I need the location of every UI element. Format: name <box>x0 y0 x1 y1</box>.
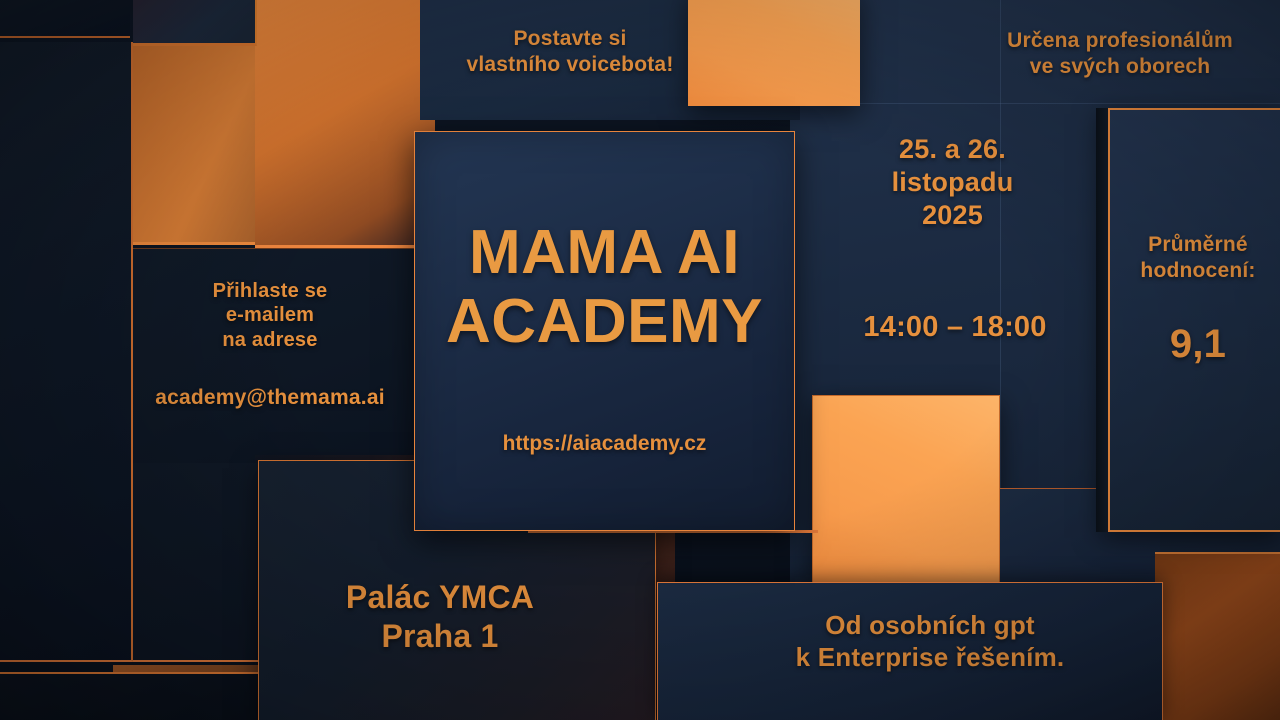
event-venue: Palác YMCA Praha 1 <box>280 578 600 656</box>
bg-slab-left-tall <box>0 42 133 662</box>
bg-seam-vertical-right <box>1000 0 1001 560</box>
tagline-voicebot: Postavte si vlastního voicebota! <box>350 26 790 77</box>
signup-email-address[interactable]: academy@themama.ai <box>110 385 430 411</box>
poster-canvas: MAMA AI ACADEMY https://aiacademy.cz Pos… <box>0 0 1280 720</box>
bg-orange-slab-bottomright <box>1155 552 1280 720</box>
tagline-professionals: Určena profesionálům ve svých oborech <box>900 28 1280 79</box>
website-url[interactable]: https://aiacademy.cz <box>415 432 794 456</box>
page-title: MAMA AI ACADEMY <box>415 218 794 357</box>
bg-slab-upper-middle <box>133 0 257 46</box>
bg-seam-horizontal-right <box>790 103 1280 104</box>
signup-instruction: Přihlaste se e-mailem na adrese <box>120 279 420 352</box>
hero-card: MAMA AI ACADEMY https://aiacademy.cz <box>414 131 795 531</box>
event-date: 25. a 26. listopadu 2025 <box>830 133 1075 232</box>
bg-orange-tile-center <box>812 395 1000 583</box>
rating-label: Průměrné hodnocení: <box>1118 232 1278 283</box>
bg-slab-topleft <box>0 0 130 38</box>
rating-value: 9,1 <box>1118 320 1278 369</box>
scope-statement: Od osobních gpt k Enterprise řešením. <box>700 610 1160 673</box>
event-time: 14:00 – 18:00 <box>810 310 1100 345</box>
